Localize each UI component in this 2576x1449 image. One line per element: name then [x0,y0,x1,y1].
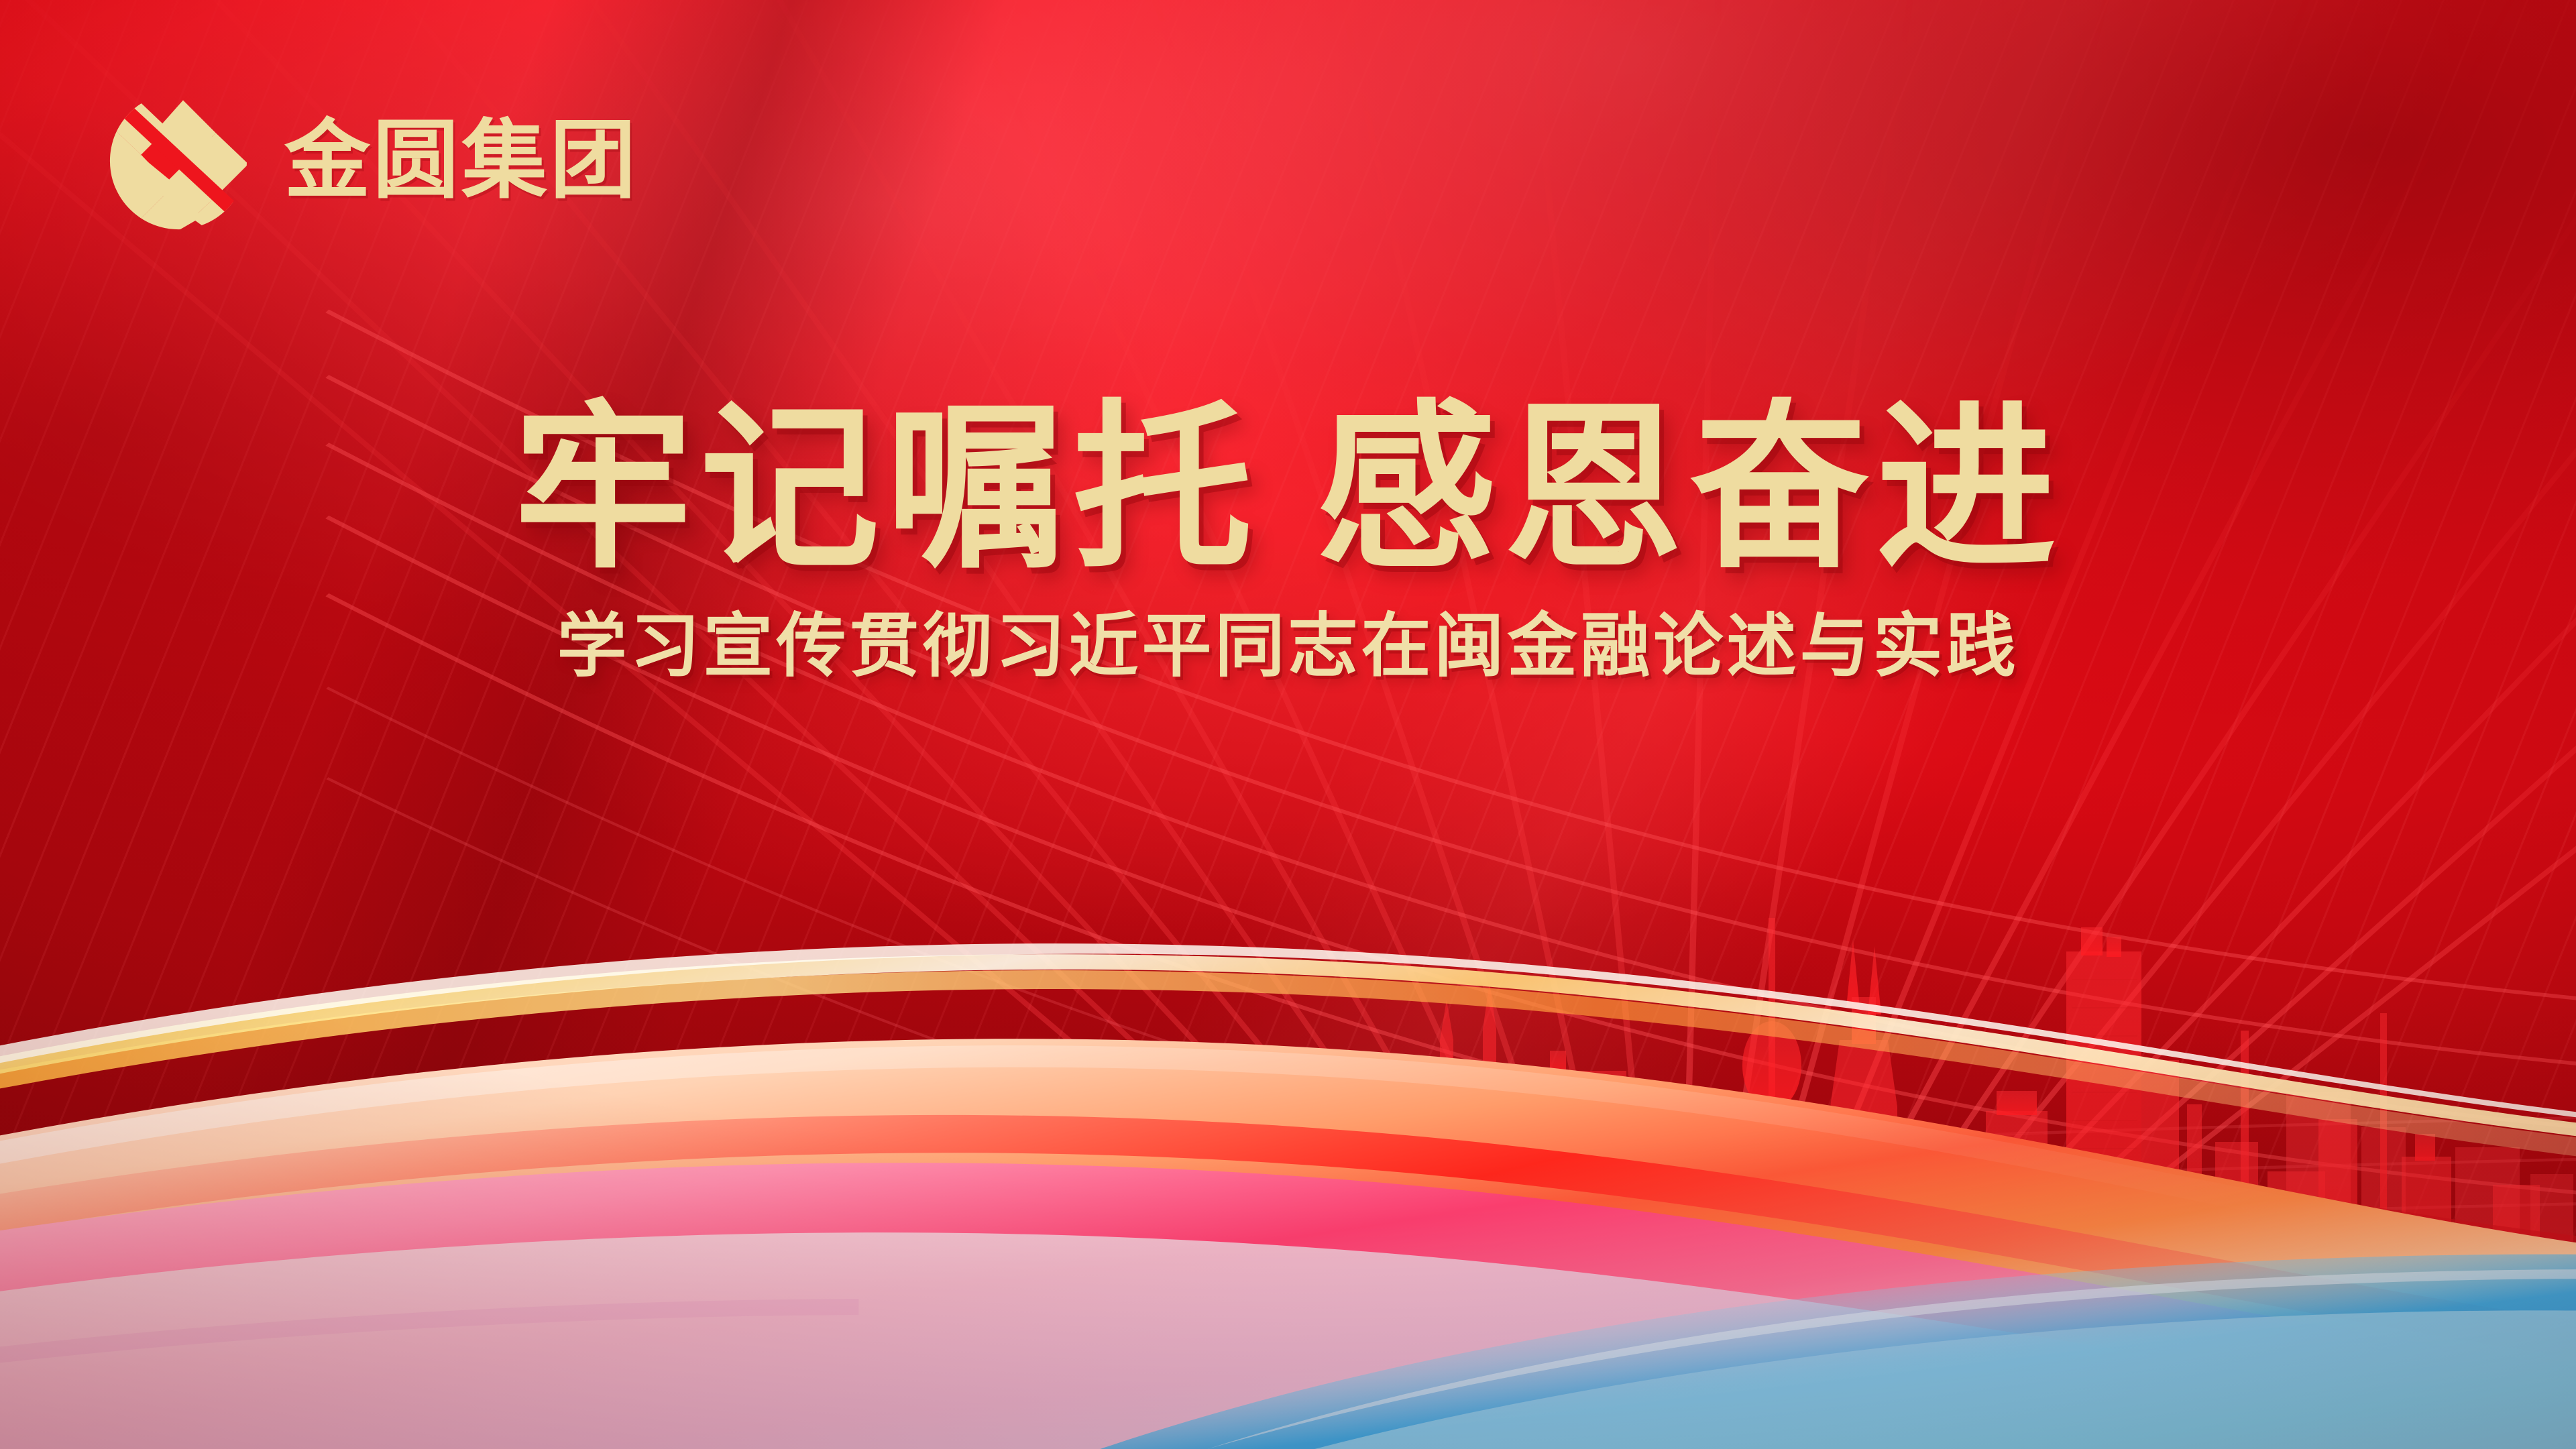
headline-part-one: 牢记嘱托 [514,388,1259,589]
sub-headline: 学习宣传贯彻习近平同志在闽金融论述与实践 [0,607,2576,687]
headline-part-two: 感恩奋进 [1317,388,2063,589]
brand-wordmark: 金圆集团 [284,118,638,204]
main-headline: 牢记嘱托感恩奋进 [0,394,2576,583]
jinyuan-interlock-circle-logo-icon [101,82,256,240]
poster-banner: 金圆集团 牢记嘱托感恩奋进 学习宣传贯彻习近平同志在闽金融论述与实践 [0,0,2576,1449]
brand-logo-lockup[interactable]: 金圆集团 [101,82,638,240]
headline-block: 牢记嘱托感恩奋进 学习宣传贯彻习近平同志在闽金融论述与实践 [0,394,2576,687]
